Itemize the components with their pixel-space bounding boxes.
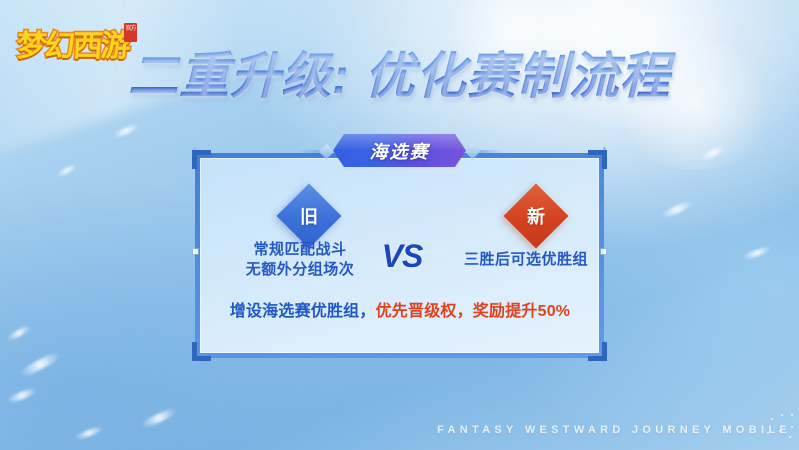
background-streak-4: [6, 324, 32, 342]
promo-slide: 梦幻西游 官方 二重升级: 优化赛制流程 海选赛 旧 常规匹配战斗 无额外分组场…: [0, 0, 799, 450]
comparison-old-line-1: 常规匹配战斗: [224, 240, 376, 260]
background-streak-7: [700, 145, 726, 162]
badge-old-label: 旧: [300, 203, 318, 229]
background-streak-3: [140, 406, 178, 429]
background-streak-6: [660, 199, 694, 219]
background-streak-1: [18, 350, 61, 379]
badge-new-label: 新: [527, 203, 545, 229]
banner-rail-right: [478, 150, 502, 153]
background-streak-9: [112, 123, 140, 140]
summary-line: 增设海选赛优胜组，优先晋级权，奖励提升50%: [205, 300, 595, 324]
background-streak-5: [74, 425, 104, 441]
game-logo-seal: 官方: [124, 23, 137, 42]
page-title: 二重升级: 优化赛制流程: [128, 44, 688, 108]
summary-red-part: 优先晋级权，奖励提升50%: [376, 303, 571, 320]
banner-label: 海选赛: [333, 134, 466, 167]
banner-rail-left: [297, 150, 321, 153]
comparison-new-text: 三胜后可选优胜组: [440, 250, 612, 270]
background-streak-8: [742, 245, 772, 261]
background-streak-2: [6, 386, 38, 404]
panel-tick-left: [193, 249, 198, 254]
comparison-new-line-1: 三胜后可选优胜组: [440, 250, 612, 270]
footer-watermark: FANTASY WESTWARD JOURNEY MOBILE: [437, 424, 791, 436]
vs-label: VS: [371, 238, 433, 275]
comparison-old-line-2: 无额外分组场次: [224, 260, 376, 280]
comparison-old-text: 常规匹配战斗 无额外分组场次: [224, 240, 376, 280]
game-logo: 梦幻西游 官方: [17, 19, 135, 69]
background-streak-10: [56, 163, 78, 178]
stage-banner: 海选赛: [333, 134, 466, 167]
summary-blue-part: 增设海选赛优胜组，: [230, 303, 376, 320]
game-logo-text: 梦幻西游: [15, 21, 130, 65]
